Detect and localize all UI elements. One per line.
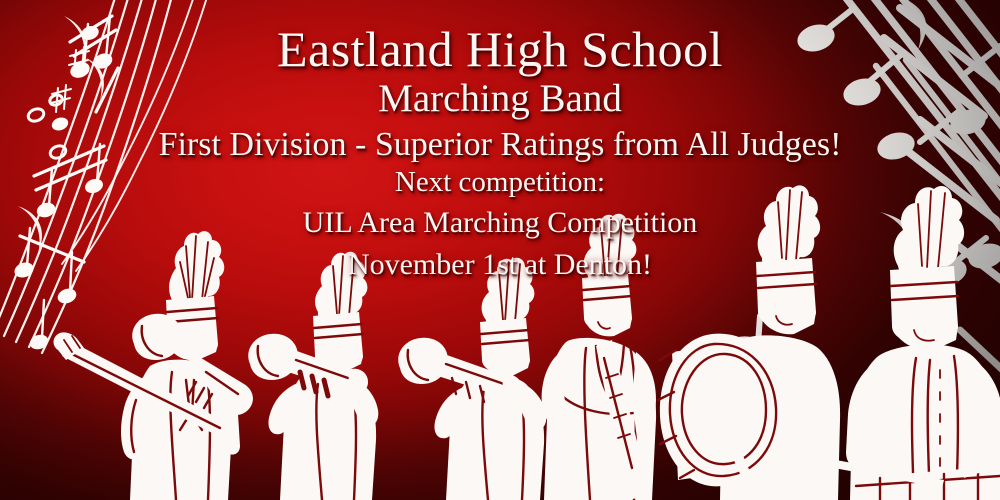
band-name-heading: Marching Band [0,79,1000,118]
poster-canvas: Eastland High School Marching Band First… [0,0,1000,500]
next-competition-label: Next competition: [0,168,1000,197]
school-name-heading: Eastland High School [0,24,1000,74]
silhouette-trumpet-player-1 [248,252,378,500]
silhouette-trumpet-player-2 [398,258,546,500]
competition-date-line: November 1st at Denton! [0,250,1000,280]
competition-name-line: UIL Area Marching Competition [0,208,1000,238]
ratings-announcement-line: First Division - Superior Ratings from A… [0,128,1000,162]
